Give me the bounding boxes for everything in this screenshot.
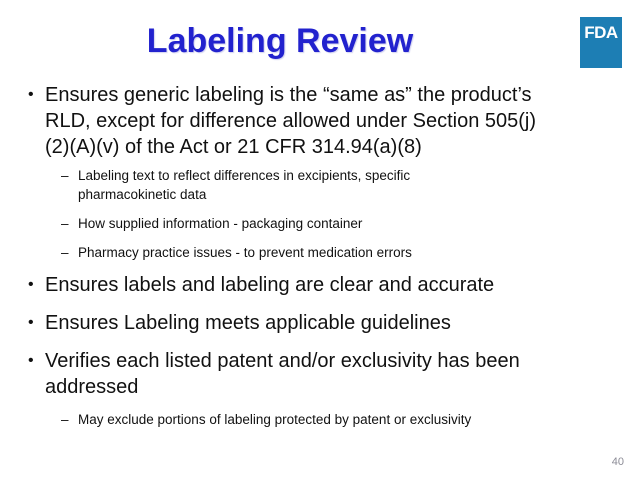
list-item: • Verifies each listed patent and/or exc… <box>0 348 640 429</box>
sub-bullet-text: Pharmacy practice issues - to prevent me… <box>78 245 412 260</box>
list-item: • Ensures labels and labeling are clear … <box>0 272 640 298</box>
bullet-marker-icon: • <box>28 310 34 336</box>
bullet-list: • Ensures generic labeling is the “same … <box>0 82 640 429</box>
slide-canvas: FDA Labeling Review • Ensures generic la… <box>0 0 640 480</box>
sub-bullet-list: – May exclude portions of labeling prote… <box>45 410 550 429</box>
dash-marker-icon: – <box>61 214 69 233</box>
list-item: – Labeling text to reflect differences i… <box>45 166 550 204</box>
dash-marker-icon: – <box>61 243 69 262</box>
bullet-marker-icon: • <box>28 82 34 108</box>
list-item: • Ensures generic labeling is the “same … <box>0 82 640 262</box>
list-item: – How supplied information - packaging c… <box>45 214 550 233</box>
fda-logo-text: FDA <box>584 24 617 41</box>
fda-logo: FDA <box>580 17 622 68</box>
bullet-marker-icon: • <box>28 272 34 298</box>
sub-bullet-text: How supplied information - packaging con… <box>78 216 362 231</box>
list-item: – May exclude portions of labeling prote… <box>45 410 550 429</box>
slide-body: • Ensures generic labeling is the “same … <box>0 82 640 439</box>
sub-bullet-text: Labeling text to reflect differences in … <box>78 168 410 202</box>
bullet-text: Verifies each listed patent and/or exclu… <box>45 348 550 400</box>
bullet-text: Ensures generic labeling is the “same as… <box>45 82 550 160</box>
list-item: • Ensures Labeling meets applicable guid… <box>0 310 640 336</box>
sub-bullet-text: May exclude portions of labeling protect… <box>78 412 471 427</box>
sub-bullet-list: – Labeling text to reflect differences i… <box>45 166 550 262</box>
dash-marker-icon: – <box>61 410 69 429</box>
dash-marker-icon: – <box>61 166 69 185</box>
page-title: Labeling Review <box>0 22 560 61</box>
bullet-text: Ensures labels and labeling are clear an… <box>45 272 550 298</box>
bullet-marker-icon: • <box>28 348 34 374</box>
slide-number: 40 <box>612 456 624 468</box>
bullet-text: Ensures Labeling meets applicable guidel… <box>45 310 550 336</box>
list-item: – Pharmacy practice issues - to prevent … <box>45 243 550 262</box>
